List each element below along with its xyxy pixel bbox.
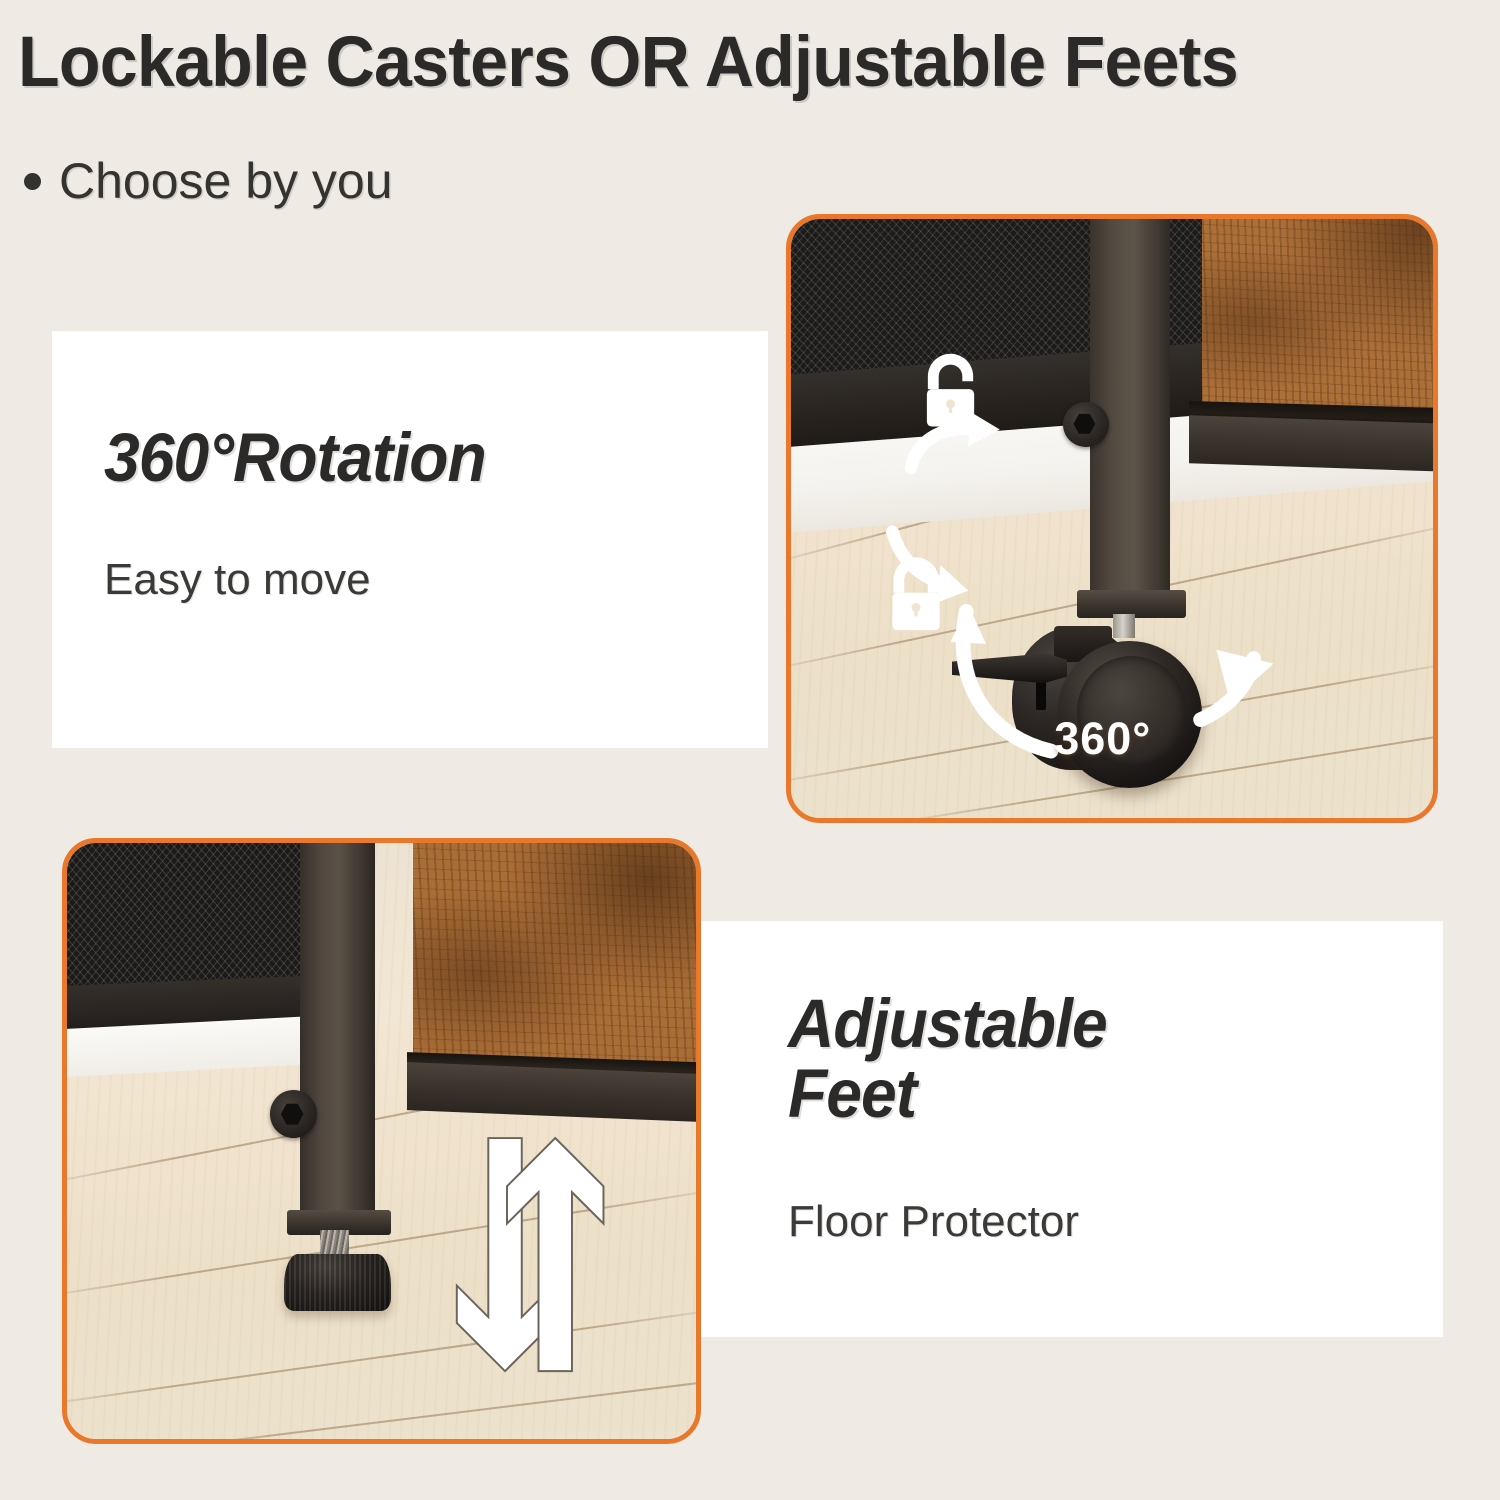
metal-leg	[300, 843, 375, 1213]
feet-photo-card	[62, 838, 701, 1444]
feet-subtitle: Floor Protector	[788, 1197, 1079, 1247]
feet-title: Adjustable Feet	[788, 989, 1234, 1130]
bullet-point-icon	[24, 173, 41, 190]
rustic-wood-board	[1202, 219, 1433, 423]
rotation-subtitle: Easy to move	[104, 555, 371, 605]
subtitle-row: Choose by you	[24, 152, 393, 210]
caster-stem	[1113, 614, 1135, 638]
caster-photo-card: 360°	[786, 214, 1438, 823]
rustic-wood-board	[413, 843, 696, 1069]
rotation-title: 360°Rotation	[104, 423, 486, 493]
page-title: Lockable Casters OR Adjustable Feets	[18, 22, 1429, 103]
rotation-degree-label: 360°	[1054, 713, 1151, 765]
feet-photo	[67, 843, 696, 1439]
lower-frame-rail	[1189, 415, 1433, 472]
caster-photo: 360°	[791, 219, 1433, 818]
adjustable-foot-pad	[284, 1254, 391, 1311]
feet-text-card: Adjustable Feet Floor Protector	[700, 921, 1443, 1337]
rotation-text-card: 360°Rotation Easy to move	[52, 331, 768, 748]
subtitle-text: Choose by you	[59, 152, 393, 210]
